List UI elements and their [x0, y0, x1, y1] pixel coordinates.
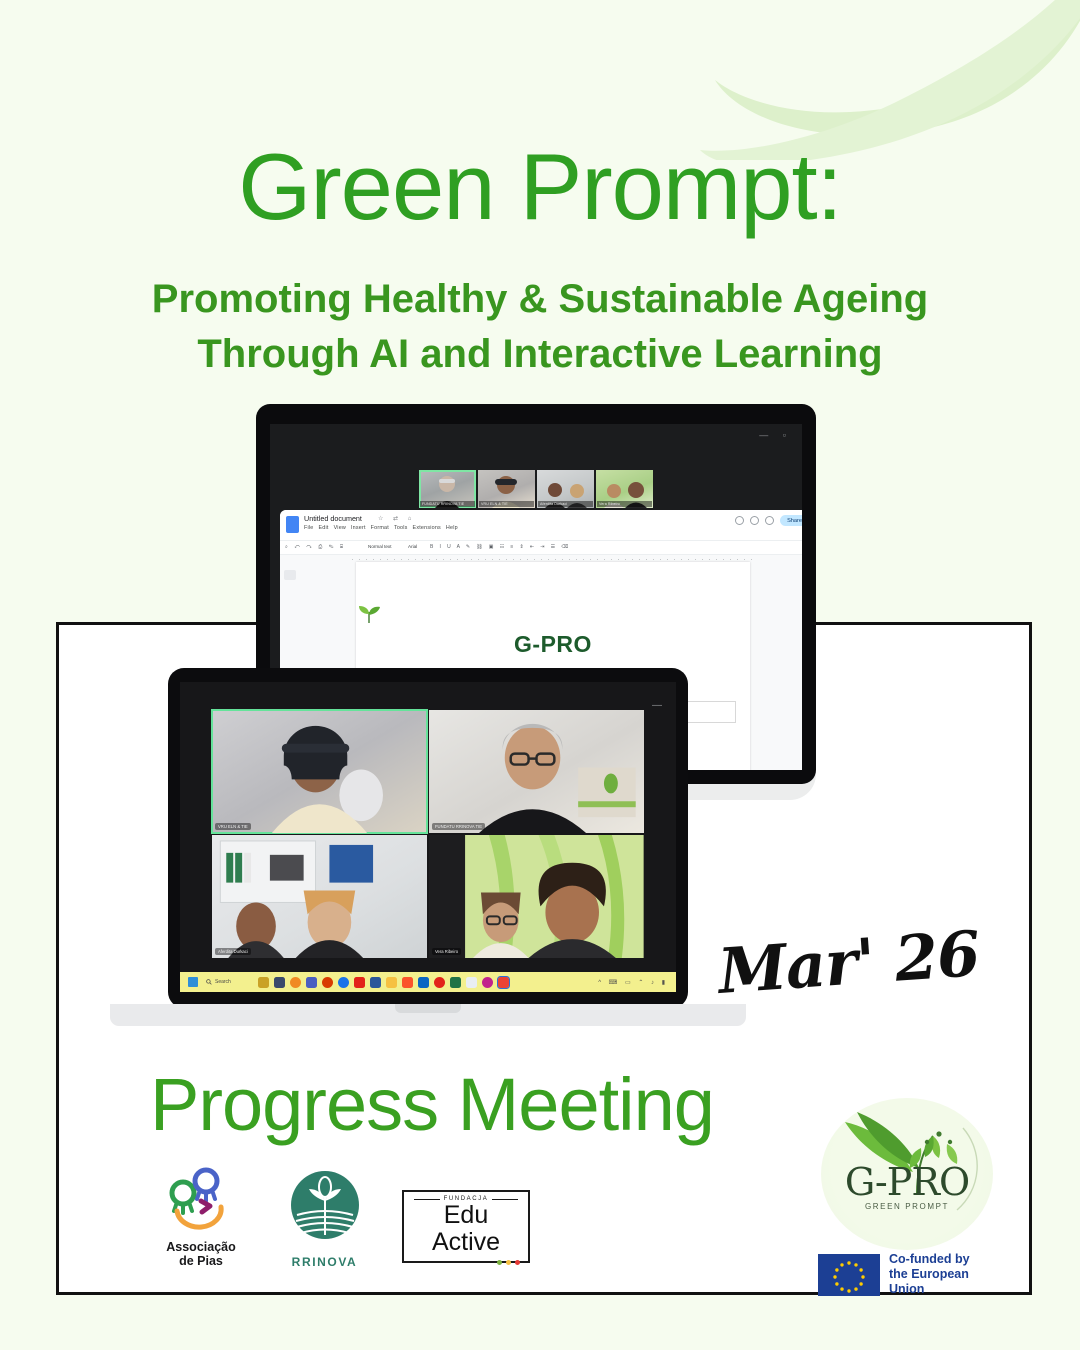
monitor-window-controls[interactable]: — ▫ — [759, 430, 792, 440]
office-icon[interactable] — [322, 977, 333, 988]
system-tray[interactable]: ^ ⌨ ▭ ⌃ ♪ ▮ — [598, 979, 668, 986]
edu-active-small-label: FUNDACJA — [410, 1196, 522, 1202]
linkedin-icon[interactable] — [418, 977, 429, 988]
laptop-device: — VRU ELN & TIE — [168, 668, 688, 1028]
badge-wordmark: G-PRO — [821, 1160, 993, 1204]
rrinova-icon — [285, 1169, 365, 1247]
participant-name: VRU ELN & TIE — [215, 823, 251, 830]
outline-toggle[interactable] — [284, 570, 296, 580]
participant-name: Vera Ribeiro — [432, 948, 461, 955]
teams-icon[interactable] — [306, 977, 317, 988]
menu-edit[interactable]: Edit — [319, 525, 329, 531]
font-select[interactable]: Arial — [408, 544, 417, 549]
project-badge: G-PRO GREEN PROMPT Co-funded by — [812, 1098, 1002, 1297]
toolbar-left-icons[interactable]: ⌕ ↶ ↷ ⎙ ✎ ⌸ — [285, 544, 346, 550]
menu-insert[interactable]: Insert — [351, 525, 366, 531]
eu-funding-text: Co-funded by the European Union — [889, 1252, 1002, 1297]
toolbar-format-icons[interactable]: B I U A ✎ ⛓ ▣ ☷ ≡ ⇕ ⇤ ⇥ ☰ ⌫ — [430, 544, 571, 550]
eu-funding-notice: Co-funded by the European Union — [812, 1252, 1002, 1297]
history-icon[interactable] — [735, 516, 744, 525]
participant-name: Vera Ribeiro — [597, 501, 652, 507]
video-tile[interactable]: Vera Ribeiro — [429, 835, 644, 958]
firefox-icon[interactable] — [290, 977, 301, 988]
doc-heading: G-PRO — [356, 631, 750, 658]
participant-name: Aferdita Durkaci — [215, 948, 251, 955]
eu-line-2: the European Union — [889, 1267, 1002, 1297]
meet-icon[interactable] — [498, 977, 509, 988]
participant-name: FUNDATU RRINOVA TIE — [420, 501, 475, 507]
excel-icon[interactable] — [450, 977, 461, 988]
docs-file-icon — [286, 516, 299, 533]
partner-rrinova: RRINOVA — [277, 1169, 372, 1269]
participant-avatar — [212, 710, 427, 833]
edu-active-wordmark: Edu Active — [410, 1202, 522, 1255]
video-thumbnail[interactable]: Vera Ribeiro — [596, 470, 653, 508]
doc-status-icons[interactable]: ☆ ⇄ ⌂ — [378, 515, 415, 522]
search-placeholder: Search — [215, 979, 231, 985]
brave-icon[interactable] — [402, 977, 413, 988]
search-input[interactable]: Search — [206, 979, 231, 985]
search-icon — [206, 979, 212, 985]
document-title[interactable]: Untitled document — [304, 514, 362, 523]
menu-view[interactable]: View — [334, 525, 346, 531]
minimize-icon[interactable]: — — [652, 700, 662, 711]
event-label: Progress Meeting — [150, 1062, 714, 1147]
gdoc-header: Untitled document ☆ ⇄ ⌂ FileEditViewInse… — [280, 510, 802, 540]
laptop-screen: — VRU ELN & TIE — [180, 682, 676, 992]
video-call-grid: VRU ELN & TIE FUNDATU RRINOVA TIE — [212, 710, 644, 958]
partner-edu-active: FUNDACJA Edu Active — [402, 1190, 530, 1263]
share-button[interactable]: Share — [780, 515, 802, 526]
badge-tagline: GREEN PROMPT — [821, 1202, 993, 1211]
caption-line-2: de Pias — [155, 1254, 247, 1268]
participant-name: VRU ELN & TIE — [479, 501, 534, 507]
partner-associacao-de-pias: Associação de Pias — [155, 1165, 247, 1269]
video-tile[interactable]: VRU ELN & TIE — [212, 710, 427, 833]
participant-avatar — [429, 710, 644, 833]
explorer-icon[interactable] — [258, 977, 269, 988]
video-tile[interactable]: Aferdita Durkaci — [212, 835, 427, 958]
mail-icon[interactable] — [482, 977, 493, 988]
eu-line-1: Co-funded by — [889, 1252, 1002, 1267]
text-style-select[interactable]: Normal text — [368, 544, 392, 549]
caption-line-1: Associação — [155, 1240, 247, 1254]
page-title: Green Prompt: — [0, 140, 1080, 234]
menu-format[interactable]: Format — [371, 525, 389, 531]
windows-start-icon[interactable] — [188, 977, 198, 987]
menu-file[interactable]: File — [304, 525, 314, 531]
laptop-base-notch — [395, 1004, 461, 1013]
participant-avatar — [429, 835, 644, 958]
gdoc-ruler[interactable] — [280, 554, 802, 562]
gdoc-menubar[interactable]: FileEditViewInsertFormatToolsExtensionsH… — [304, 525, 463, 531]
subtitle-line-2: Through AI and Interactive Learning — [0, 327, 1080, 382]
windows-taskbar[interactable]: Search ^ ⌨ ▭ ⌃ ♪ ▮ — [180, 972, 676, 992]
acrobat-icon[interactable] — [354, 977, 365, 988]
participant-avatar — [212, 835, 427, 958]
menu-tools[interactable]: Tools — [394, 525, 408, 531]
poster-canvas: Green Prompt: Promoting Healthy & Sustai… — [0, 0, 1080, 1350]
gdoc-header-actions: Share — [735, 515, 802, 526]
video-thumbnail[interactable]: FUNDATU RRINOVA TIE — [419, 470, 476, 508]
store-icon[interactable] — [274, 977, 285, 988]
partner-logos: Associação de Pias RRINOVA FUNDACJA Edu … — [155, 1165, 530, 1269]
partner-caption: RRINOVA — [277, 1255, 372, 1269]
edu-active-dots — [497, 1260, 520, 1265]
gdoc-toolbar[interactable]: ⌕ ↶ ↷ ⎙ ✎ ⌸ Normal text Arial B I U A ✎ … — [280, 540, 802, 554]
monitor-participant-strip: FUNDATU RRINOVA TIE VRU ELN & TIE A — [419, 470, 653, 508]
folder-icon[interactable] — [386, 977, 397, 988]
eu-flag-icon — [818, 1254, 880, 1296]
chrome-icon[interactable] — [338, 977, 349, 988]
video-thumbnail[interactable]: Aferdita Durkaci — [537, 470, 594, 508]
comment-icon[interactable] — [750, 516, 759, 525]
menu-help[interactable]: Help — [446, 525, 458, 531]
adobe-icon[interactable] — [434, 977, 445, 988]
participant-name: Aferdita Durkaci — [538, 501, 593, 507]
meet-icon[interactable] — [765, 516, 774, 525]
associacao-de-pias-icon — [161, 1165, 241, 1231]
word-icon[interactable] — [370, 977, 381, 988]
video-thumbnail[interactable]: VRU ELN & TIE — [478, 470, 535, 508]
notepad-icon[interactable] — [466, 977, 477, 988]
subtitle-line-1: Promoting Healthy & Sustainable Ageing — [0, 272, 1080, 327]
menu-extensions[interactable]: Extensions — [413, 525, 441, 531]
page-subtitle: Promoting Healthy & Sustainable Ageing T… — [0, 272, 1080, 382]
gpro-logo: G-PRO GREEN PROMPT — [821, 1098, 993, 1250]
sprout-icon — [356, 602, 382, 624]
partner-caption: Associação de Pias — [155, 1240, 247, 1269]
video-tile[interactable]: FUNDATU RRINOVA TIE — [429, 710, 644, 833]
participant-name: FUNDATU RRINOVA TIE — [432, 823, 485, 830]
